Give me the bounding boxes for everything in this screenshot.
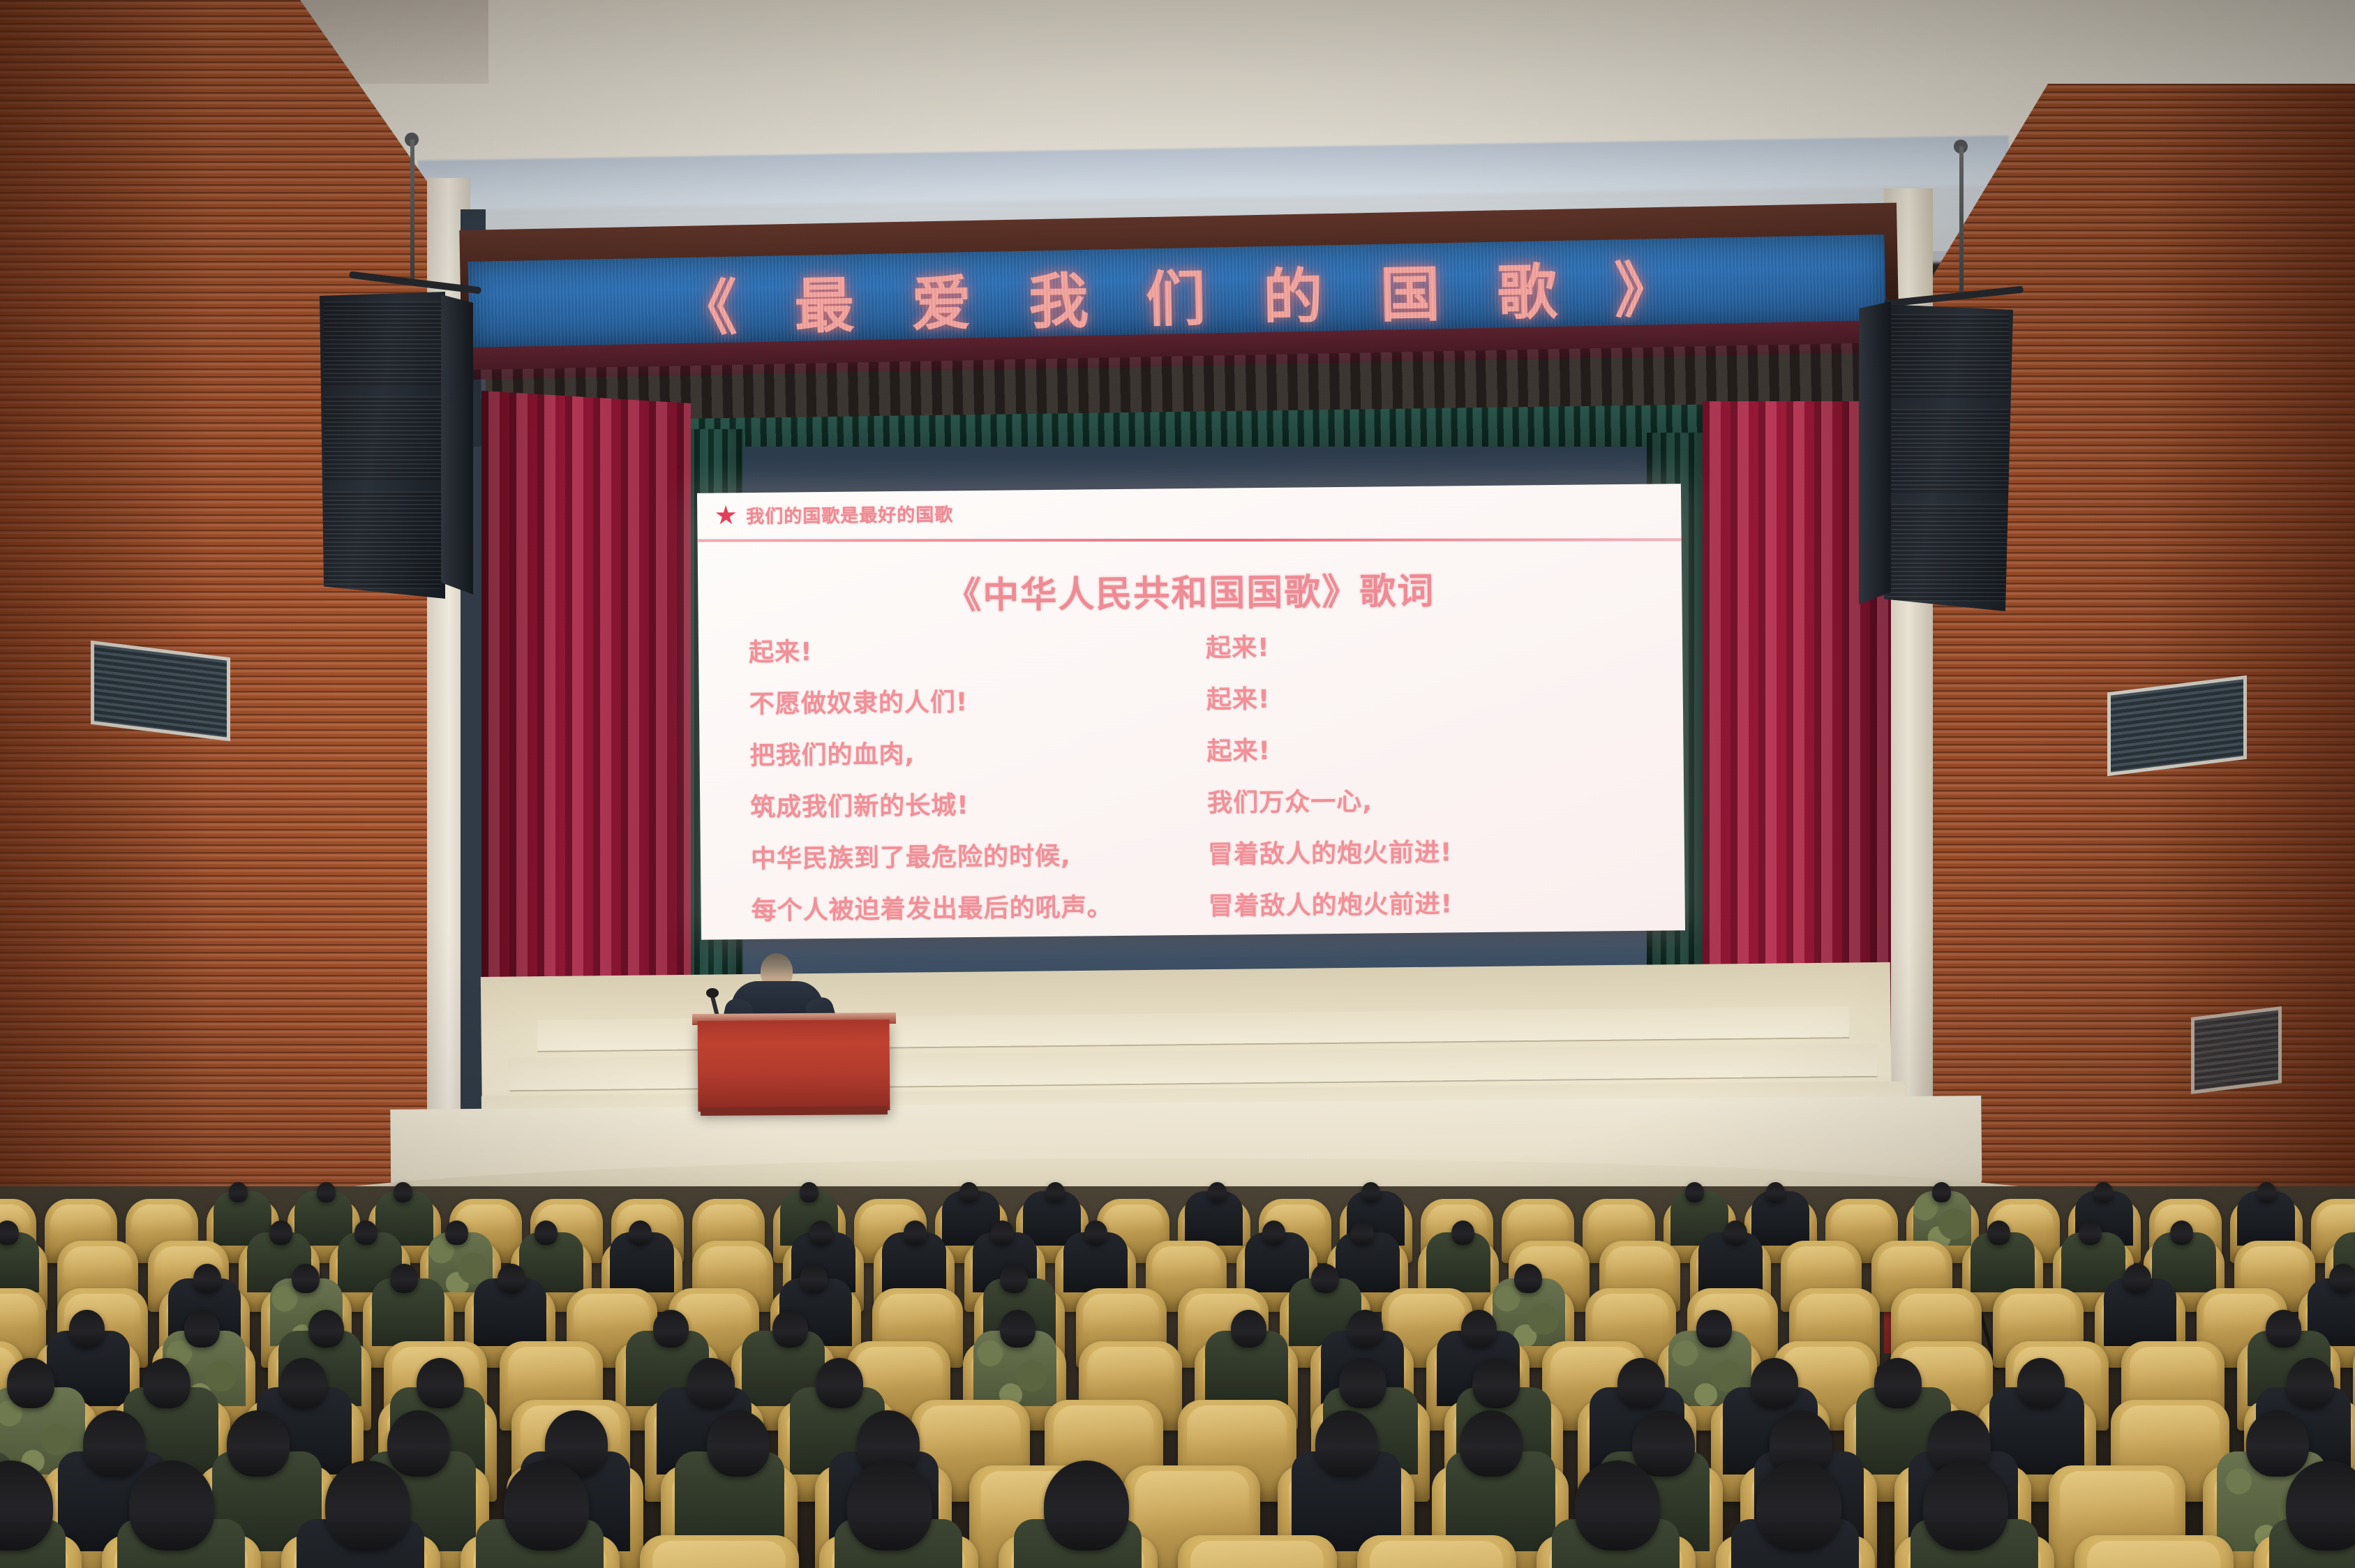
audience-member-head	[1932, 1182, 1951, 1202]
speaker-grille	[324, 301, 441, 385]
audience-member-head	[292, 1264, 320, 1293]
audience-member-head	[280, 1358, 327, 1408]
speaker-grille	[1888, 314, 2009, 398]
speaker-grille	[324, 491, 441, 589]
audience-member-head	[1696, 1310, 1732, 1347]
audience-member-head	[1311, 1264, 1339, 1293]
lyrics-line: 把我们的血肉,	[749, 731, 1176, 772]
audience-member-head	[1632, 1410, 1695, 1477]
audience-member-head	[1685, 1182, 1704, 1202]
wall-right-slatted-wood	[1922, 84, 2355, 1256]
lyrics-line: 我们万众一心,	[1207, 779, 1633, 819]
audience-member-head	[325, 1461, 410, 1551]
audience-member-head	[991, 1220, 1014, 1245]
audience-member-head	[0, 1220, 19, 1245]
lyrics-line: 不愿做奴隶的人们!	[749, 680, 1176, 720]
audience-member-head	[1262, 1220, 1285, 1245]
lyrics-line: 起来!	[749, 628, 1175, 669]
lyrics-line: 筑成我们新的长城!	[750, 783, 1176, 823]
audience-member-head	[809, 1220, 832, 1245]
speaker-side-right	[1859, 301, 1891, 604]
auditorium-seat	[2074, 1535, 2234, 1568]
audience-member-head	[317, 1182, 336, 1202]
audience-member-head	[847, 1461, 932, 1551]
audience-member-head	[354, 1220, 377, 1245]
audience-member-head	[772, 1310, 808, 1347]
audience-member-head	[1361, 1182, 1380, 1202]
audience-member-head	[959, 1182, 978, 1202]
speaker-rod-right	[1959, 147, 1964, 293]
audience-member-head	[417, 1358, 464, 1408]
audience-member-head	[1751, 1358, 1798, 1408]
lyrics-line: 每个人被迫着发出最后的吼声。	[751, 886, 1177, 927]
podium-base	[701, 1106, 888, 1116]
audience-member-head	[1044, 1461, 1129, 1551]
audience-member-head	[2123, 1264, 2151, 1293]
audience-member-head	[1472, 1358, 1520, 1408]
audience-member-head	[1084, 1220, 1107, 1245]
audience-member-head	[229, 1182, 248, 1202]
audience-member-head	[1451, 1220, 1474, 1245]
audience-member-head	[1000, 1264, 1028, 1293]
audience-member-head	[629, 1220, 652, 1245]
speaker-rod-left	[410, 140, 414, 279]
line-array-speaker-right	[1884, 304, 2013, 611]
audience-member-head	[1724, 1220, 1747, 1245]
audience-member-head	[1987, 1220, 2010, 1245]
lyrics-left-column: 起来! 不愿做奴隶的人们! 把我们的血肉, 筑成我们新的长城! 中华民族到了最危…	[749, 628, 1178, 925]
audience-member-head	[800, 1182, 818, 1202]
audience-member-head	[2094, 1182, 2113, 1202]
audience-member-head	[184, 1310, 220, 1347]
audience-member-head	[504, 1461, 589, 1551]
auditorium-photo: 《 最 爱 我 们 的 国 歌 》 我们的国歌是最好的国歌 《中华人民共和国国歌…	[0, 0, 2355, 1568]
audience-member-head	[534, 1220, 558, 1245]
audience-member-head	[1514, 1264, 1542, 1293]
auditorium-seat	[1178, 1535, 1337, 1568]
lyrics-line: 冒着敌人的炮火前进!	[1208, 882, 1634, 923]
lyrics-line: 中华民族到了最危险的时候,	[751, 835, 1177, 875]
podium-desk	[698, 1020, 890, 1112]
audience-member-head	[1575, 1461, 1660, 1551]
slide-header: 我们的国歌是最好的国歌	[715, 500, 953, 528]
audience-member-head	[1315, 1410, 1378, 1477]
audience-member-head	[227, 1410, 290, 1477]
audience-member-head	[193, 1264, 221, 1293]
audience-member-head	[390, 1264, 418, 1293]
speaker-grille	[1888, 409, 2009, 493]
audience-member-head	[2287, 1358, 2334, 1408]
lyrics-line: 冒着敌人的炮火前进!	[1208, 830, 1634, 871]
audience-member-head	[1756, 1461, 1841, 1551]
audience-member-head	[2017, 1358, 2065, 1408]
audience-member-head	[904, 1220, 927, 1245]
audience-member-head	[707, 1410, 770, 1477]
audience-member-head	[143, 1358, 190, 1408]
audience-member-head	[69, 1310, 105, 1347]
speaker-grille	[1888, 504, 2009, 602]
wall-left-slatted-wood	[0, 0, 447, 1228]
line-array-speaker-left	[320, 292, 445, 599]
slide-header-label: 我们的国歌是最好的国歌	[746, 500, 953, 528]
audience-member-head	[1347, 1310, 1383, 1347]
audience-member-head	[2266, 1310, 2301, 1347]
audience-member-head	[687, 1358, 735, 1408]
audience-member-head	[2257, 1182, 2276, 1202]
audience-member-head	[1617, 1358, 1665, 1408]
slide-title: 《中华人民共和国国歌》歌词	[698, 559, 1682, 621]
lyrics-line: 起来!	[1206, 675, 1633, 716]
audience-member-head	[1339, 1358, 1386, 1408]
red-star-icon	[715, 505, 736, 526]
audience-member-head	[2170, 1220, 2193, 1245]
audience-member-head	[1874, 1358, 1922, 1408]
microphone-icon	[706, 988, 719, 998]
audience-member-head	[816, 1358, 863, 1408]
audience-member-head	[1923, 1461, 2008, 1551]
hvac-vent-grille-right-lower	[2191, 1006, 2282, 1094]
hvac-vent-grille-right	[2107, 675, 2247, 777]
auditorium-seat	[1357, 1535, 1516, 1568]
audience-member-head	[269, 1220, 292, 1245]
audience-member-head	[129, 1461, 214, 1551]
projection-screen: 我们的国歌是最好的国歌 《中华人民共和国国歌》歌词 起来! 不愿做奴隶的人们! …	[697, 484, 1685, 940]
audience-member-head	[394, 1182, 412, 1202]
audience-member-head	[7, 1358, 54, 1408]
audience-member-head	[83, 1410, 146, 1477]
audience-member-head	[1231, 1310, 1266, 1347]
audience-member-head	[653, 1310, 689, 1347]
lyrics-line: 起来!	[1206, 624, 1632, 664]
audience-member-head	[800, 1264, 828, 1293]
audience-member-head	[498, 1264, 525, 1293]
audience-member-head	[308, 1310, 344, 1347]
audience-member-head	[1766, 1182, 1785, 1202]
audience-member-head	[2329, 1264, 2355, 1293]
audience-member-head	[1000, 1310, 1036, 1347]
audience-member-head	[387, 1410, 450, 1477]
auditorium-seat	[640, 1535, 799, 1568]
audience-member-head	[1460, 1410, 1523, 1477]
audience-member-head	[1208, 1182, 1227, 1202]
audience-member-head	[2246, 1410, 2309, 1477]
slide-divider	[698, 538, 1682, 542]
speaker-grille	[324, 396, 441, 480]
audience-member-head	[1351, 1220, 1374, 1245]
audience-member-head	[2079, 1220, 2102, 1245]
lyrics-right-column: 起来! 起来! 起来! 我们万众一心, 冒着敌人的炮火前进! 冒着敌人的炮火前进…	[1175, 624, 1635, 921]
audience-member-head	[1461, 1310, 1497, 1347]
audience-member-head	[1046, 1182, 1065, 1202]
hvac-vent-grille-left	[91, 641, 230, 742]
speaker-side-left	[441, 294, 473, 595]
audience-member-head	[445, 1220, 468, 1245]
slide-lyrics: 起来! 不愿做奴隶的人们! 把我们的血肉, 筑成我们新的长城! 中华民族到了最危…	[698, 623, 1685, 926]
lyrics-line: 起来!	[1206, 727, 1633, 768]
